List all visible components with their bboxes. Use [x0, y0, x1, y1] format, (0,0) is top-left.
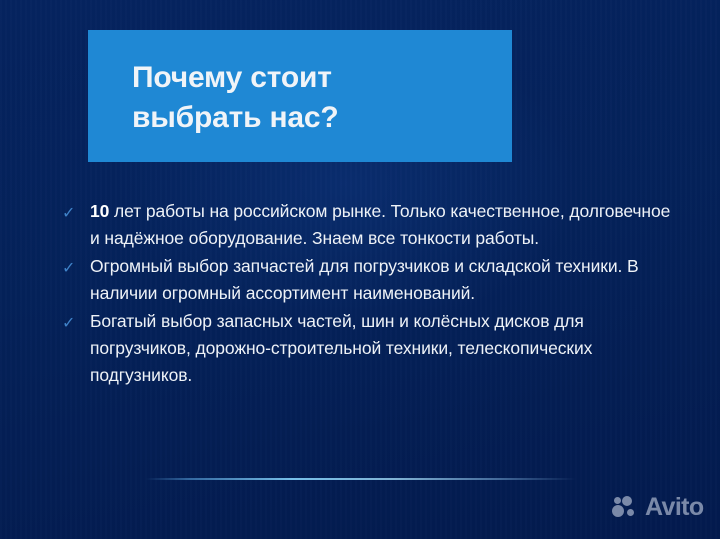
avito-watermark: Avito — [612, 494, 704, 520]
list-item: ✓ 10 лет работы на российском рынке. Тол… — [62, 198, 672, 252]
avito-dot-small-bottom — [627, 509, 634, 516]
avito-dot-small-top — [614, 497, 621, 504]
horizontal-divider — [146, 478, 576, 480]
list-item-text: Богатый выбор запасных частей, шин и кол… — [90, 311, 592, 385]
list-item: ✓ Огромный выбор запчастей для погрузчик… — [62, 253, 672, 307]
avito-dots-icon — [612, 494, 641, 520]
list-item-body: Огромный выбор запчастей для погрузчиков… — [90, 256, 639, 303]
check-icon: ✓ — [62, 200, 82, 227]
avito-wordmark: Avito — [645, 494, 704, 520]
title-banner: Почему стоит выбрать нас? — [88, 30, 512, 162]
check-icon: ✓ — [62, 310, 82, 337]
avito-dot-medium-right — [622, 496, 632, 506]
page-title: Почему стоит выбрать нас? — [132, 58, 482, 137]
check-icon: ✓ — [62, 255, 82, 282]
list-item-lead: 10 — [90, 201, 109, 221]
list-item-body: Богатый выбор запасных частей, шин и кол… — [90, 311, 592, 385]
list-item-body: лет работы на российском рынке. Только к… — [90, 201, 670, 248]
list-item-text: 10 лет работы на российском рынке. Тольк… — [90, 201, 670, 248]
list-item: ✓ Богатый выбор запасных частей, шин и к… — [62, 308, 672, 389]
benefits-list: ✓ 10 лет работы на российском рынке. Тол… — [62, 198, 672, 390]
list-item-text: Огромный выбор запчастей для погрузчиков… — [90, 256, 639, 303]
presentation-slide: Почему стоит выбрать нас? ✓ 10 лет работ… — [0, 0, 720, 539]
avito-dot-large-left — [612, 505, 624, 517]
